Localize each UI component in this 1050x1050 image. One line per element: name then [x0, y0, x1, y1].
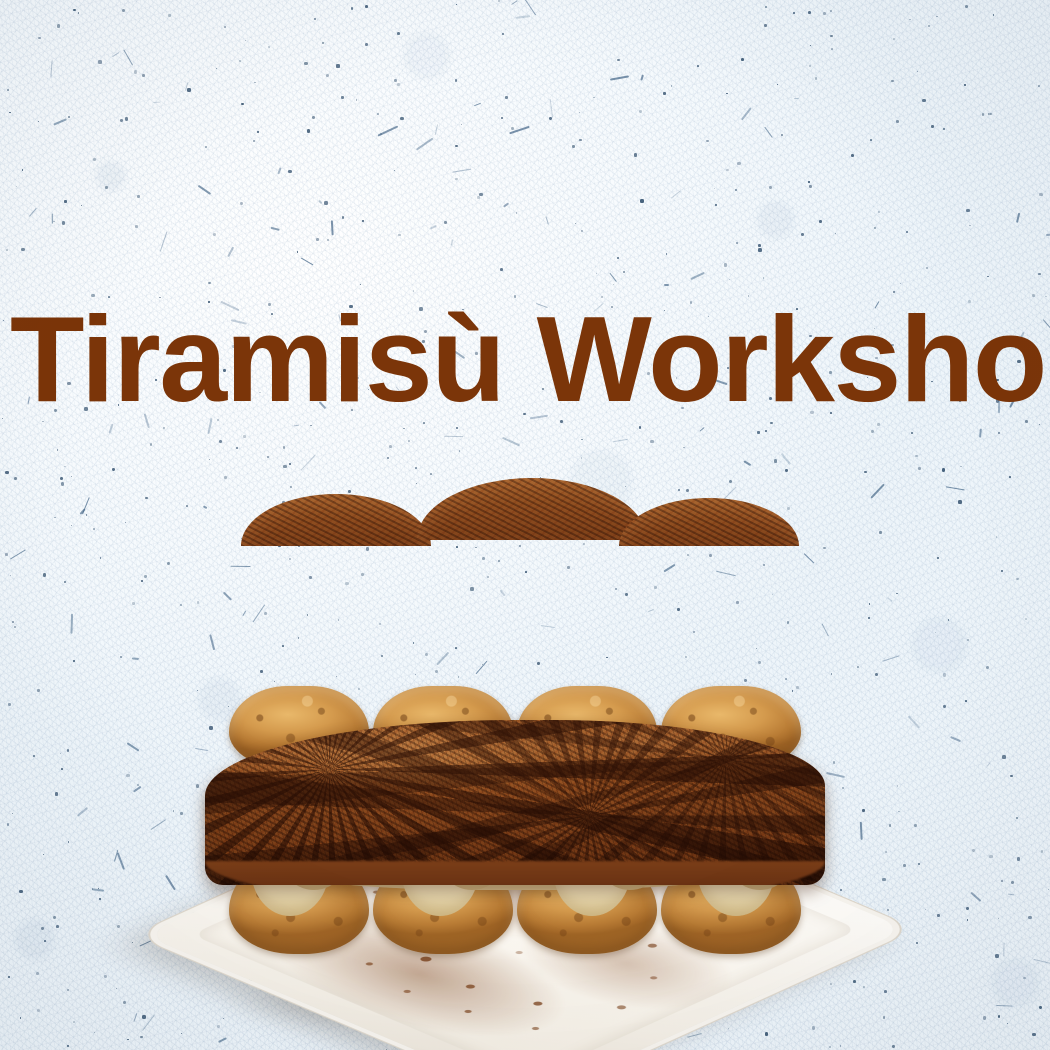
paper-speck: [397, 32, 400, 35]
paper-speck: [709, 554, 712, 557]
paper-speck: [403, 428, 405, 430]
paper-speck: [943, 128, 946, 131]
paper-speck: [1038, 273, 1040, 275]
paper-speck: [596, 273, 597, 274]
paper-speck: [415, 467, 417, 469]
paper-speck: [763, 277, 764, 278]
paper-speck: [477, 196, 480, 199]
paper-speck: [879, 531, 882, 534]
paper-speck: [81, 205, 82, 206]
paper-speck: [678, 489, 681, 492]
paper-speck: [142, 74, 145, 77]
paper-speck: [649, 9, 650, 10]
paper-speck: [389, 445, 393, 449]
paper-speck: [398, 234, 400, 236]
paper-speck: [336, 64, 339, 67]
paper-speck: [819, 220, 822, 223]
paper-speck: [906, 231, 908, 233]
paper-speck: [224, 26, 226, 28]
paper-speck: [38, 121, 40, 123]
paper-speck: [326, 74, 329, 77]
paper-speck: [960, 466, 961, 467]
poster-canvas: Tiramisù Workshop: [0, 0, 1050, 1050]
paper-speck: [726, 93, 727, 94]
paper-speck: [71, 525, 72, 526]
paper-speck: [801, 233, 804, 236]
paper-speck: [144, 575, 147, 578]
paper-speck: [823, 12, 826, 15]
paper-speck: [216, 68, 217, 69]
paper-speck: [964, 84, 966, 86]
paper-speck: [808, 11, 812, 15]
paper-speck: [966, 209, 969, 212]
paper-speck: [871, 430, 874, 433]
paper-speck: [245, 40, 246, 41]
paper-fiber: [524, 0, 536, 15]
paper-speck: [105, 186, 108, 189]
paper-speck: [758, 248, 762, 252]
paper-speck: [686, 489, 689, 492]
paper-fiber: [887, 597, 892, 602]
paper-speck: [64, 200, 66, 202]
paper-fiber: [663, 564, 675, 573]
paper-speck: [309, 576, 312, 579]
paper-speck: [763, 564, 765, 566]
paper-speck: [400, 117, 404, 121]
paper-speck: [937, 557, 939, 559]
cocoa-powder-top: [205, 720, 825, 885]
paper-speck: [729, 480, 732, 483]
paper-speck: [283, 446, 286, 449]
paper-fiber: [53, 118, 66, 125]
paper-speck: [243, 435, 246, 438]
paper-speck: [835, 233, 836, 234]
paper-speck: [456, 546, 458, 548]
paper-speck: [461, 124, 462, 125]
paper-speck: [304, 62, 307, 65]
paper-speck: [987, 276, 989, 278]
paper-speck: [830, 10, 832, 12]
paper-fiber: [742, 107, 753, 120]
paper-speck: [891, 80, 894, 83]
paper-speck: [86, 514, 88, 516]
paper-fiber: [613, 438, 628, 442]
paper-speck: [501, 117, 503, 119]
paper-fiber: [1016, 213, 1020, 223]
paper-speck: [502, 33, 505, 36]
paper-speck: [765, 430, 767, 432]
paper-speck: [479, 193, 482, 196]
paper-speck: [205, 146, 207, 148]
paper-speck: [650, 440, 653, 443]
paper-speck: [14, 477, 17, 480]
paper-speck: [948, 619, 949, 620]
paper-speck: [324, 201, 328, 205]
paper-speck: [715, 204, 717, 206]
cocoa-edge-drape: [205, 861, 825, 885]
paper-speck: [687, 554, 689, 556]
paper-fiber: [277, 168, 281, 175]
paper-speck: [969, 225, 971, 227]
paper-fiber: [609, 273, 616, 282]
paper-speck: [706, 140, 708, 142]
paper-fiber: [444, 436, 463, 437]
paper-speck: [918, 467, 921, 470]
paper-speck: [71, 476, 72, 477]
paper-speck: [831, 48, 833, 50]
paper-speck: [764, 24, 767, 27]
dessert-scene: [0, 640, 1050, 1050]
paper-speck: [327, 239, 329, 241]
paper-speck: [290, 486, 293, 489]
paper-speck: [16, 186, 17, 187]
paper-speck: [57, 449, 59, 451]
paper-speck: [408, 440, 410, 442]
paper-fiber: [870, 483, 885, 498]
paper-speck: [498, 560, 500, 562]
paper-speck: [93, 158, 96, 161]
paper-speck: [209, 459, 210, 460]
paper-speck: [634, 153, 637, 156]
paper-fiber: [641, 75, 645, 82]
paper-fiber: [113, 52, 120, 57]
paper-speck: [213, 233, 216, 236]
paper-speck: [567, 566, 570, 569]
paper-speck: [362, 220, 363, 221]
paper-fiber: [435, 124, 439, 135]
paper-speck: [163, 427, 165, 429]
paper-speck: [697, 65, 699, 67]
paper-speck: [394, 170, 395, 171]
paper-speck: [666, 253, 668, 255]
paper-speck: [122, 9, 125, 12]
cocoa-hump: [619, 498, 799, 546]
paper-fiber: [378, 125, 399, 136]
paper-fiber: [503, 202, 509, 207]
paper-speck: [9, 112, 10, 113]
paper-speck: [663, 92, 665, 94]
paper-speck: [893, 38, 895, 40]
paper-speck: [505, 96, 508, 99]
paper-speck: [312, 116, 315, 119]
paper-speck: [757, 431, 759, 433]
paper-fiber: [512, 1, 519, 6]
paper-speck: [377, 113, 379, 115]
paper-speck: [639, 110, 642, 113]
paper-speck: [726, 169, 729, 172]
paper-speck: [900, 283, 902, 285]
paper-speck: [186, 505, 188, 507]
paper-speck: [125, 117, 128, 120]
paper-speck: [54, 517, 55, 518]
paper-fiber: [198, 185, 212, 195]
paper-speck: [815, 77, 817, 79]
paper-speck: [7, 89, 9, 91]
paper-fiber: [123, 49, 133, 65]
paper-speck: [911, 432, 913, 434]
paper-speck: [996, 536, 997, 537]
paper-speck: [57, 24, 61, 28]
paper-speck: [581, 457, 582, 458]
paper-fiber: [474, 103, 481, 106]
paper-speck: [168, 14, 170, 16]
paper-fiber: [610, 75, 629, 80]
paper-speck: [267, 456, 270, 459]
paper-speck: [112, 468, 115, 471]
paper-speck: [68, 116, 70, 118]
paper-speck: [714, 188, 716, 190]
paper-speck: [809, 65, 811, 67]
cocoa-hump: [241, 494, 431, 546]
paper-speck: [741, 58, 744, 61]
paper-speck: [43, 573, 46, 576]
paper-speck: [769, 186, 772, 189]
paper-speck: [322, 42, 324, 44]
paper-fiber: [301, 257, 314, 265]
paper-speck: [64, 466, 65, 467]
paper-speck: [98, 60, 102, 64]
paper-speck: [12, 621, 14, 623]
paper-speck: [125, 522, 126, 523]
paper-speck: [5, 553, 7, 555]
paper-fiber: [503, 438, 521, 447]
paper-speck: [307, 129, 310, 132]
paper-fiber: [690, 272, 704, 280]
paper-speck: [993, 14, 995, 16]
paper-speck: [654, 586, 657, 589]
paper-speck: [869, 603, 871, 605]
paper-speck: [989, 113, 992, 116]
paper-speck: [145, 497, 147, 499]
paper-fiber: [671, 191, 681, 199]
paper-speck: [487, 576, 489, 578]
paper-speck: [1009, 476, 1011, 478]
paper-speck: [735, 189, 736, 190]
paper-speck: [922, 99, 925, 102]
paper-fiber: [52, 213, 53, 223]
paper-speck: [167, 562, 170, 565]
paper-speck: [1001, 570, 1003, 572]
paper-speck: [736, 242, 738, 244]
paper-speck: [289, 558, 291, 560]
paper-fiber: [451, 239, 453, 245]
paper-speck: [345, 582, 349, 586]
paper-speck: [387, 457, 389, 459]
paper-speck: [593, 97, 595, 99]
paper-fiber: [794, 97, 799, 98]
paper-speck: [965, 5, 968, 8]
paper-speck: [120, 119, 123, 122]
paper-speck: [982, 113, 984, 115]
paper-fiber: [153, 102, 160, 103]
paper-speck: [1038, 85, 1040, 87]
paper-speck: [774, 459, 777, 462]
paper-fiber: [227, 247, 233, 257]
paper-speck: [132, 602, 135, 605]
paper-speck: [809, 185, 812, 188]
paper-speck: [498, 0, 500, 2]
paper-speck: [224, 476, 227, 479]
paper-speck: [342, 216, 345, 219]
paper-speck: [430, 473, 432, 475]
paper-speck: [456, 427, 457, 428]
paper-fiber: [10, 549, 26, 559]
paper-speck: [365, 5, 368, 8]
paper-speck: [348, 490, 351, 493]
paper-speck: [575, 223, 576, 224]
paper-speck: [896, 593, 898, 595]
paper-speck: [958, 500, 962, 504]
paper-speck: [896, 120, 899, 123]
cocoa-hump: [417, 478, 647, 540]
paper-speck: [316, 238, 319, 241]
paper-speck: [351, 7, 354, 10]
paper-speck: [1025, 618, 1027, 620]
paper-speck: [78, 12, 80, 14]
paper-speck: [219, 440, 222, 443]
paper-fiber: [203, 505, 208, 509]
paper-speck: [729, 279, 730, 280]
paper-speck: [851, 154, 854, 157]
paper-fiber: [550, 99, 553, 118]
paper-fiber: [452, 169, 471, 173]
paper-speck: [640, 199, 644, 203]
paper-speck: [936, 16, 937, 17]
paper-fiber: [231, 566, 251, 567]
paper-speck: [581, 230, 583, 232]
paper-speck: [455, 178, 457, 180]
paper-speck: [870, 139, 872, 141]
paper-speck: [197, 601, 199, 603]
paper-fiber: [716, 571, 736, 576]
paper-fiber: [50, 60, 52, 77]
paper-fiber: [1046, 232, 1050, 236]
paper-fiber: [764, 127, 773, 138]
paper-speck: [864, 471, 866, 473]
paper-speck: [397, 83, 400, 86]
paper-speck: [500, 268, 503, 271]
paper-speck: [915, 455, 918, 458]
paper-speck: [5, 471, 9, 475]
paper-speck: [394, 79, 397, 82]
paper-speck: [617, 257, 619, 259]
paper-speck: [61, 482, 64, 485]
paper-fiber: [946, 486, 965, 490]
paper-speck: [581, 439, 583, 441]
paper-speck: [10, 575, 11, 576]
paper-speck: [671, 85, 672, 86]
paper-speck: [1016, 578, 1019, 581]
paper-speck: [356, 99, 358, 101]
paper-speck: [793, 12, 795, 14]
paper-speck: [150, 443, 153, 446]
paper-speck: [613, 284, 614, 285]
paper-speck: [519, 545, 521, 547]
paper-speck: [781, 134, 783, 136]
paper-speck: [62, 221, 65, 224]
paper-speck: [482, 557, 485, 560]
paper-speck: [810, 45, 811, 46]
paper-fiber: [417, 137, 434, 150]
paper-speck: [365, 43, 368, 46]
paper-speck: [22, 169, 23, 170]
paper-fiber: [29, 208, 37, 217]
paper-speck: [942, 468, 945, 471]
paper-speck: [830, 35, 833, 38]
paper-speck: [765, 6, 767, 8]
paper-speck: [868, 617, 870, 619]
paper-speck: [623, 271, 626, 274]
paper-fiber: [545, 217, 549, 225]
paper-speck: [283, 465, 286, 468]
paper-fiber: [516, 15, 530, 18]
paper-speck: [724, 263, 727, 266]
paper-speck: [758, 244, 761, 247]
paper-speck: [288, 170, 291, 173]
paper-speck: [878, 211, 880, 213]
paper-speck: [314, 18, 317, 21]
paper-speck: [579, 139, 581, 141]
paper-fiber: [271, 227, 280, 231]
paper-speck: [93, 528, 95, 530]
paper-fiber: [700, 427, 705, 431]
paper-speck: [60, 477, 63, 480]
paper-speck: [1039, 193, 1042, 196]
paper-speck: [823, 547, 825, 549]
paper-speck: [516, 212, 518, 214]
paper-fiber: [743, 460, 751, 466]
paper-speck: [572, 145, 575, 148]
paper-speck: [137, 195, 140, 198]
paper-speck: [297, 251, 299, 253]
paper-speck: [73, 9, 76, 12]
paper-fiber: [803, 553, 814, 564]
paper-speck: [785, 469, 788, 472]
paper-speck: [737, 162, 740, 165]
paper-speck: [683, 447, 684, 448]
paper-speck: [38, 37, 41, 40]
paper-speck: [583, 543, 585, 545]
paper-speck: [141, 580, 143, 582]
page-title: Tiramisù Workshop: [10, 298, 1040, 420]
paper-speck: [268, 46, 271, 49]
paper-fiber: [979, 428, 982, 437]
paper-speck: [928, 25, 930, 27]
paper-speck: [808, 181, 810, 183]
paper-speck: [180, 604, 182, 606]
paper-speck: [341, 96, 343, 98]
paper-fiber: [331, 221, 334, 236]
paper-speck: [917, 71, 918, 72]
paper-speck: [14, 626, 16, 628]
paper-speck: [2, 418, 3, 419]
paper-speck: [931, 125, 934, 128]
paper-speck: [134, 70, 138, 74]
paper-speck: [361, 573, 364, 576]
paper-speck: [6, 249, 8, 251]
paper-speck: [366, 547, 369, 550]
paper-fiber: [664, 284, 669, 286]
paper-speck: [777, 84, 778, 85]
paper-fiber: [430, 225, 437, 230]
paper-speck: [909, 19, 910, 20]
paper-speck: [998, 432, 1000, 434]
paper-speck: [579, 112, 580, 113]
paper-speck: [208, 282, 211, 285]
paper-speck: [64, 581, 66, 583]
paper-speck: [257, 131, 259, 133]
paper-speck: [253, 140, 256, 143]
